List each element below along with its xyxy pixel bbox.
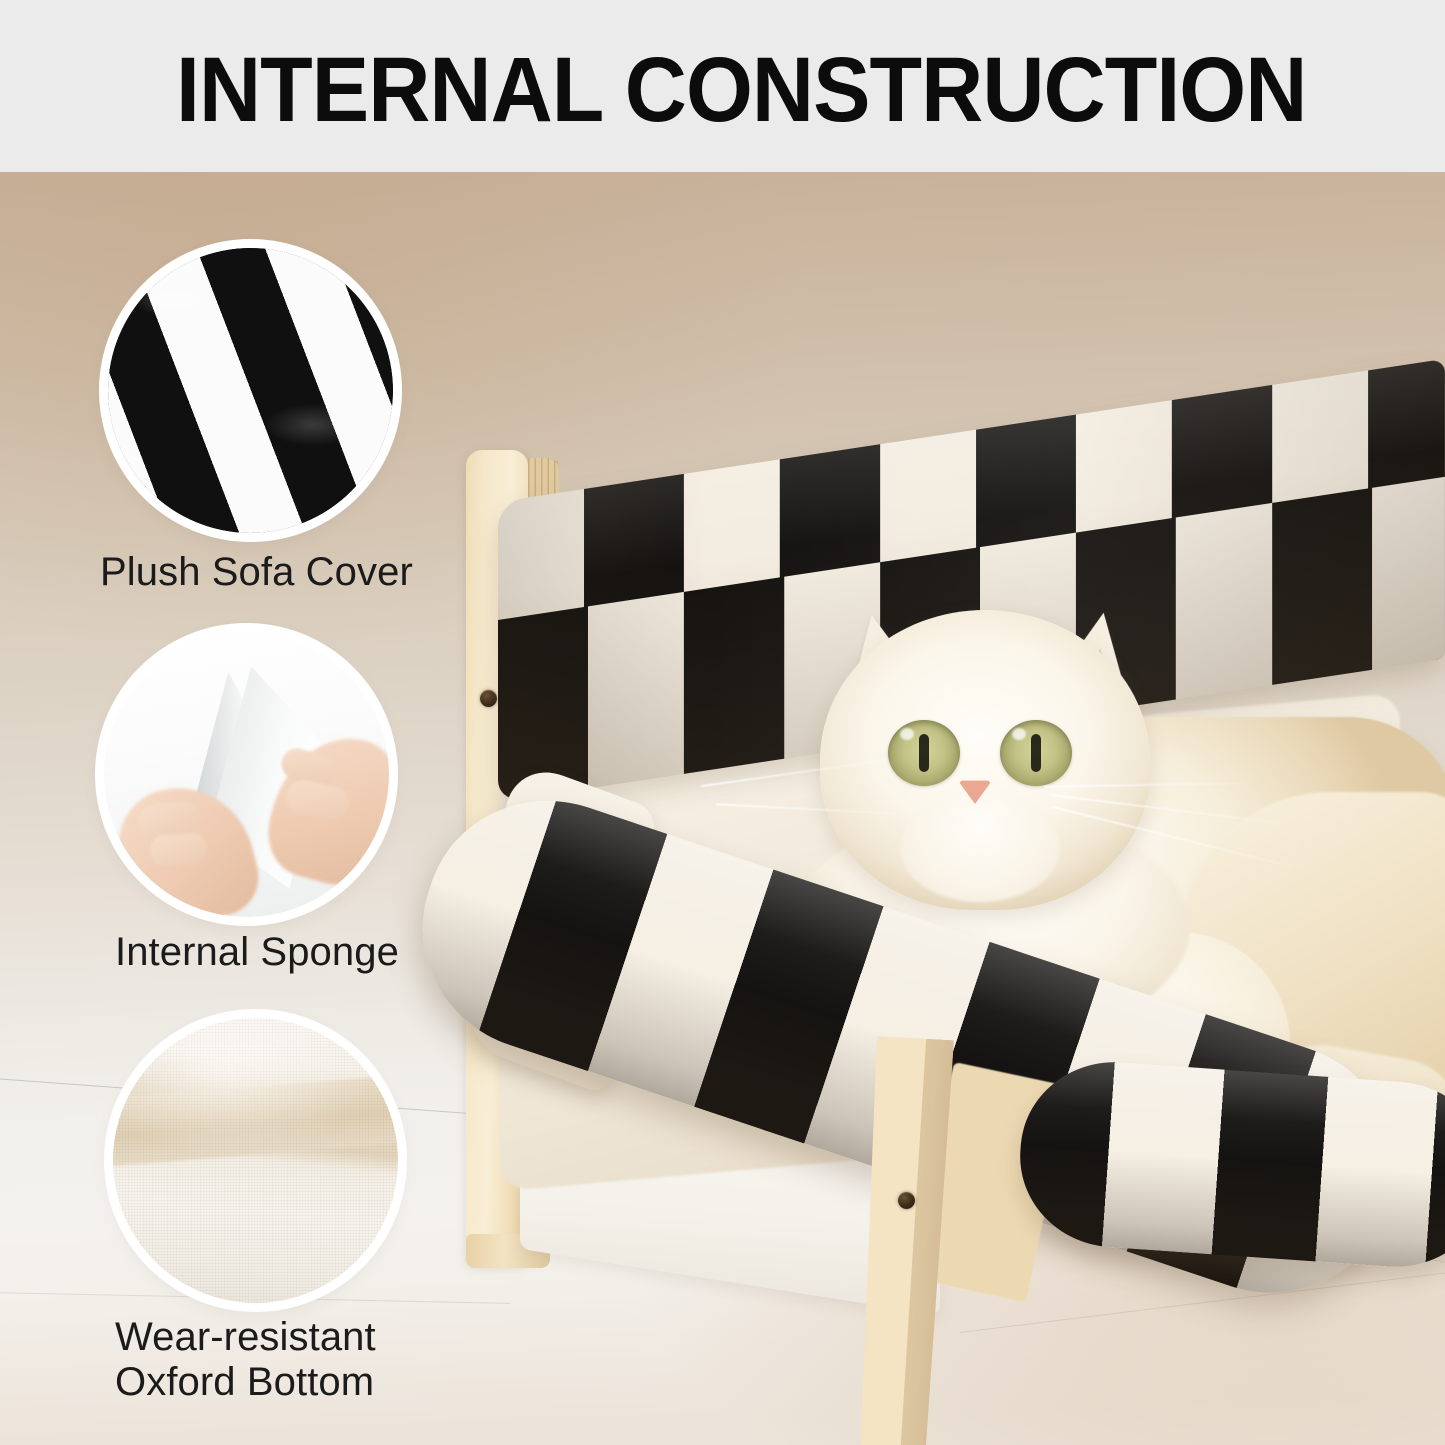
callout-oxford-bottom[interactable] — [113, 1018, 398, 1303]
plush-fabric-swatch-icon — [108, 248, 393, 533]
cat-pupil-left — [919, 734, 929, 772]
header-band: INTERNAL CONSTRUCTION — [0, 0, 1445, 172]
callout-internal-sponge[interactable] — [104, 632, 389, 917]
cat-eye-glint-right — [1012, 728, 1026, 740]
sofa-front-bolster-right — [1014, 1056, 1445, 1273]
sponge-swatch-icon — [104, 632, 389, 917]
callout-label-internal-sponge: Internal Sponge — [115, 930, 445, 975]
screw-front — [898, 1192, 915, 1209]
plush-fuzz-highlight — [108, 248, 393, 533]
cat-eye-glint-left — [900, 728, 914, 740]
product-photo: Plush Sofa Cover Internal Sponge — [0, 172, 1445, 1445]
bolster-right-shading — [1014, 1056, 1445, 1273]
infographic-page: INTERNAL CONSTRUCTION — [0, 0, 1445, 1445]
page-title: INTERNAL CONSTRUCTION — [176, 44, 1306, 136]
oxford-highlight — [113, 1018, 398, 1303]
screw-back-upper — [480, 690, 497, 707]
callout-plush-sofa-cover[interactable] — [108, 248, 393, 533]
callout-label-oxford-bottom: Wear-resistant Oxford Bottom — [115, 1315, 455, 1405]
cat-muzzle — [900, 794, 1060, 902]
callout-label-plush-sofa-cover: Plush Sofa Cover — [100, 550, 430, 595]
oxford-fabric-swatch-icon — [113, 1018, 398, 1303]
cat-pupil-right — [1031, 734, 1041, 772]
